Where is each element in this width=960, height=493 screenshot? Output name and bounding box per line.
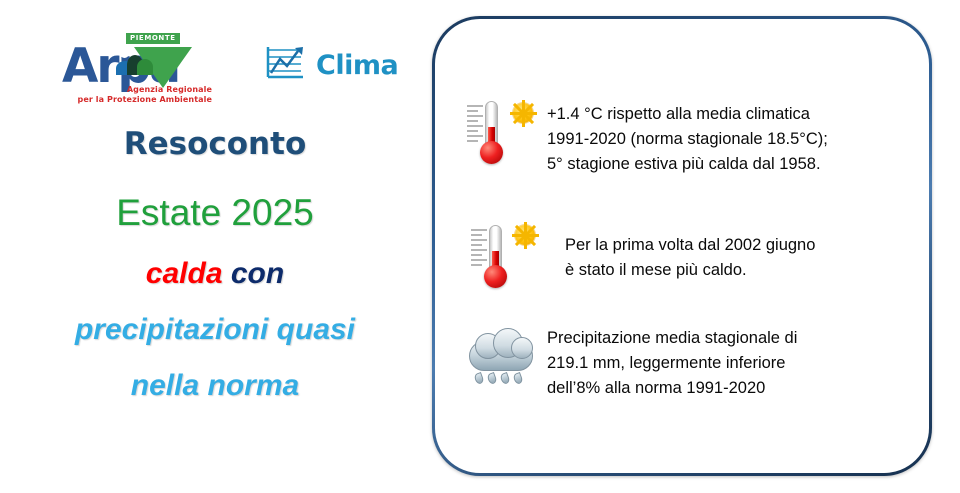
- summary-card: +1.4 °C rispetto alla media climatica 19…: [432, 16, 932, 476]
- page-title: Resoconto: [0, 124, 430, 164]
- subtitle-line-hot: calda con: [0, 246, 430, 302]
- fact-row: Precipitazione media stagionale di 219.1…: [465, 321, 917, 401]
- arpa-subtitle-line-2: per la Protezione Ambientale: [72, 95, 212, 105]
- clima-label: Clima: [316, 50, 398, 81]
- clima-logo: Clima: [265, 45, 398, 86]
- left-panel: Arpa PIEMONTE Agenzia Regionale per la P…: [0, 0, 430, 493]
- arpa-subtitle-line-1: Agenzia Regionale: [72, 85, 212, 95]
- arpa-subtitle: Agenzia Regionale per la Protezione Ambi…: [72, 85, 212, 105]
- thermometer-sun-icon: [465, 219, 547, 297]
- fact-text: Precipitazione media stagionale di 219.1…: [547, 321, 797, 401]
- arpa-piemonte-logo: Arpa PIEMONTE Agenzia Regionale per la P…: [62, 33, 212, 105]
- headline-stack: Resoconto Estate 2025 calda con precipit…: [0, 124, 430, 414]
- season-title: Estate 2025: [0, 190, 430, 236]
- summary-card-inner: +1.4 °C rispetto alla media climatica 19…: [435, 19, 929, 473]
- arpa-landscape-icon: [114, 49, 156, 75]
- fact-row: +1.4 °C rispetto alla media climatica 19…: [465, 99, 917, 177]
- arpa-region-badge: PIEMONTE: [126, 33, 180, 44]
- subtitle-word-with: con: [231, 257, 284, 290]
- subtitle-line-precip-1: precipitazioni quasi: [0, 302, 430, 358]
- line-chart-up-icon: [265, 45, 307, 86]
- rain-cloud-icon: [465, 321, 547, 399]
- thermometer-sun-icon: [465, 99, 547, 177]
- fact-row: Per la prima volta dal 2002 giugno è sta…: [465, 219, 917, 297]
- subtitle-word-hot: calda: [146, 257, 223, 290]
- fact-text: +1.4 °C rispetto alla media climatica 19…: [547, 99, 828, 177]
- fact-text: Per la prima volta dal 2002 giugno è sta…: [547, 219, 815, 283]
- subtitle-line-precip-2: nella norma: [0, 358, 430, 414]
